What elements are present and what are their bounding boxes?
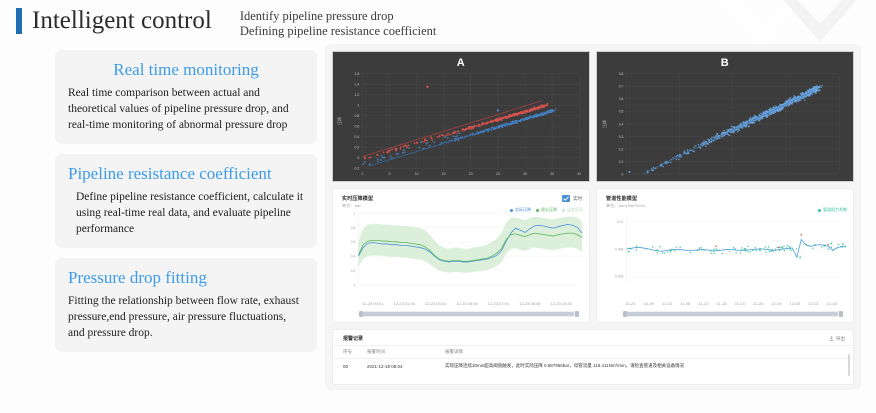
vertical-scrollbar[interactable] (848, 354, 850, 376)
scrollbar-thumb[interactable] (625, 312, 838, 316)
feature-card-title: Pressure drop fitting (68, 267, 304, 289)
svg-text:15: 15 (442, 172, 446, 176)
header-subtitles: Identify pipeline pressure drop Defining… (240, 9, 437, 39)
x-tick-label: 11-13 (698, 301, 708, 306)
x-tick-label: 11-03 (662, 301, 672, 306)
header-accent-bar (16, 8, 22, 34)
x-tick-label: 11-08 (680, 301, 690, 306)
line-chart-x-axis: 12-23 00:0112-23 01:4612-23 03:3112-23 0… (333, 301, 589, 306)
scrollbar-handle-left[interactable] (359, 311, 363, 317)
scrollbar-thumb[interactable] (361, 312, 574, 316)
svg-text:0.2: 0.2 (619, 147, 624, 151)
line-chart-title: 实时压降模型 (342, 195, 373, 202)
column-header-detail: 报警详情 (445, 346, 853, 359)
x-tick-label: 10-24 (625, 301, 635, 306)
export-button[interactable]: 导出 (829, 336, 845, 342)
svg-text:0.4: 0.4 (355, 135, 360, 139)
scatter-chart-a-plot: 0510152025303540-0.200.20.40.60.811.21.4… (333, 52, 589, 181)
svg-text:0.8: 0.8 (619, 72, 624, 76)
line-chart-realtime-pressure-drop[interactable]: 实时压降模型 单位：bar 实时 实际压降 理论压降 (332, 188, 590, 323)
x-tick-label: 11-18 (717, 301, 727, 306)
svg-text:0.2: 0.2 (355, 146, 360, 150)
scatter-chart-row: A 0510152025303540-0.200.20.40.60.811.21… (332, 51, 854, 182)
realtime-toggle[interactable]: 实时 (562, 195, 582, 202)
x-tick-label: 12-23 03:31 (425, 301, 446, 306)
svg-text:1.4: 1.4 (355, 83, 360, 87)
cell-time: 2021-12-19 05:04 (367, 359, 445, 374)
svg-text:压降: 压降 (337, 117, 342, 125)
x-tick-label: 12-23 07:01 (488, 301, 509, 306)
svg-text:0.01: 0.01 (617, 220, 624, 224)
page-title: Intelligent control (32, 6, 212, 35)
svg-text:0.7: 0.7 (619, 85, 624, 89)
cell-detail: 实际压降连续30min超高阈值触发，此时实际压降 0.687956bar，母管流… (445, 359, 853, 374)
scrollbar-handle-right[interactable] (839, 311, 843, 317)
export-label: 导出 (836, 336, 845, 342)
x-tick-label: 12-03 (771, 301, 781, 306)
alarm-records-header: 报警记录 导出 (333, 330, 853, 345)
horizontal-scrollbar[interactable] (359, 311, 579, 317)
column-header-time: 报警时间 (367, 346, 445, 359)
x-tick-label: 12-08 (790, 301, 800, 306)
svg-text:0.4: 0.4 (619, 122, 624, 126)
alarm-records-table: 序号 报警时间 报警详情 00 2021-12-19 05:04 实际压降连续3… (333, 345, 853, 373)
svg-text:0.2: 0.2 (351, 269, 356, 273)
svg-text:0.006: 0.006 (615, 275, 623, 279)
download-icon (829, 336, 834, 341)
svg-text:0: 0 (354, 283, 356, 287)
svg-text:0.6: 0.6 (355, 125, 360, 129)
svg-text:压降: 压降 (602, 120, 607, 128)
svg-text:0: 0 (622, 172, 624, 176)
line-chart-row: 实时压降模型 单位：bar 实时 实际压降 理论压降 (332, 188, 854, 323)
x-tick-label: 10-29 (644, 301, 654, 306)
feature-card-list: Real time monitoring Real time compariso… (55, 50, 317, 362)
line-chart-plot: 0.0060.0080.01 (597, 209, 853, 297)
svg-text:1.2: 1.2 (355, 93, 360, 97)
svg-text:-0.2: -0.2 (353, 167, 359, 171)
x-tick-label: 12-23 05:16 (456, 301, 477, 306)
svg-text:25: 25 (496, 172, 500, 176)
line-chart-x-axis: 10-2410-2911-0311-0811-1311-1811-2311-28… (597, 301, 853, 306)
svg-text:10: 10 (415, 172, 419, 176)
x-tick-label: 11-23 (735, 301, 745, 306)
svg-text:0.5: 0.5 (619, 110, 624, 114)
svg-text:0: 0 (357, 156, 359, 160)
dashboard-panel: A 0510152025303540-0.200.20.40.60.811.21… (325, 44, 861, 390)
feature-card-title: Real time monitoring (68, 59, 304, 81)
svg-text:1.6: 1.6 (355, 72, 360, 76)
svg-text:30: 30 (523, 172, 527, 176)
table-header-row: 序号 报警时间 报警详情 (333, 346, 853, 359)
slide-page: Intelligent control Identify pipeline pr… (0, 0, 876, 413)
svg-text:0.8: 0.8 (355, 114, 360, 118)
x-tick-label: 12-23 08:46 (519, 301, 540, 306)
svg-text:0.6: 0.6 (351, 240, 356, 244)
svg-text:0.1: 0.1 (619, 160, 624, 164)
svg-text:0: 0 (361, 172, 363, 176)
svg-text:0.008: 0.008 (615, 247, 623, 251)
check-icon (562, 195, 570, 202)
alarm-records-title: 报警记录 (343, 335, 363, 342)
alarm-records-section: 报警记录 导出 序号 报警时间 报警详情 (332, 329, 854, 385)
svg-text:0.3: 0.3 (619, 135, 624, 139)
x-tick-label: 12-18 (826, 301, 836, 306)
feature-card-real-time-monitoring: Real time monitoring Real time compariso… (55, 50, 317, 144)
x-tick-label: 12-23 10:33 (551, 301, 572, 306)
scrollbar-handle-left[interactable] (623, 311, 627, 317)
svg-text:35: 35 (550, 172, 554, 176)
svg-text:5: 5 (388, 172, 390, 176)
x-tick-label: 12-23 00:01 (362, 301, 383, 306)
table-row[interactable]: 00 2021-12-19 05:04 实际压降连续30min超高阈值触发，此时… (333, 359, 853, 374)
feature-card-title: Pipeline resistance coefficient (68, 163, 304, 185)
column-header-index: 序号 (333, 346, 367, 359)
svg-text:0.4: 0.4 (351, 255, 356, 259)
svg-text:1: 1 (354, 211, 356, 215)
svg-text:20: 20 (469, 172, 473, 176)
feature-card-pressure-drop-fitting: Pressure drop fitting Fitting the relati… (55, 258, 317, 352)
svg-text:0.8: 0.8 (351, 226, 356, 230)
scatter-chart-a[interactable]: A 0510152025303540-0.200.20.40.60.811.21… (332, 51, 590, 182)
feature-card-body: Define pipeline resistance coefficient, … (68, 189, 304, 237)
feature-card-body: Fitting the relationship between flow ra… (68, 293, 304, 341)
line-chart-plot: 00.20.40.60.81 (333, 209, 589, 297)
scatter-chart-b[interactable]: B 00.10.20.30.40.50.60.70.8压降 (596, 51, 854, 182)
svg-text:40: 40 (577, 172, 581, 176)
svg-text:1: 1 (357, 104, 359, 108)
svg-text:0.6: 0.6 (619, 97, 624, 101)
x-tick-label: 12-13 (808, 301, 818, 306)
x-tick-label: 12-23 01:46 (393, 301, 414, 306)
horizontal-scrollbar[interactable] (623, 311, 843, 317)
x-tick-label: 11-28 (753, 301, 763, 306)
realtime-toggle-label: 实时 (573, 196, 582, 202)
scrollbar-handle-right[interactable] (575, 311, 579, 317)
feature-card-body: Real time comparison between actual and … (68, 85, 304, 133)
subtitle-line-2: Defining pipeline resistance coefficient (240, 24, 437, 39)
subtitle-line-1: Identify pipeline pressure drop (240, 9, 437, 24)
page-header: Intelligent control Identify pipeline pr… (16, 6, 436, 39)
line-chart-title: 管道性能模型 (606, 195, 637, 202)
scatter-chart-b-plot: 00.10.20.30.40.50.60.70.8压降 (597, 52, 853, 181)
line-chart-pipeline-performance[interactable]: 管道性能模型 单位：bar/(Nm³/min) 管道阻力系数 0.0060.00… (596, 188, 854, 323)
feature-card-pipeline-resistance-coefficient: Pipeline resistance coefficient Define p… (55, 154, 317, 248)
cell-index: 00 (333, 359, 367, 374)
